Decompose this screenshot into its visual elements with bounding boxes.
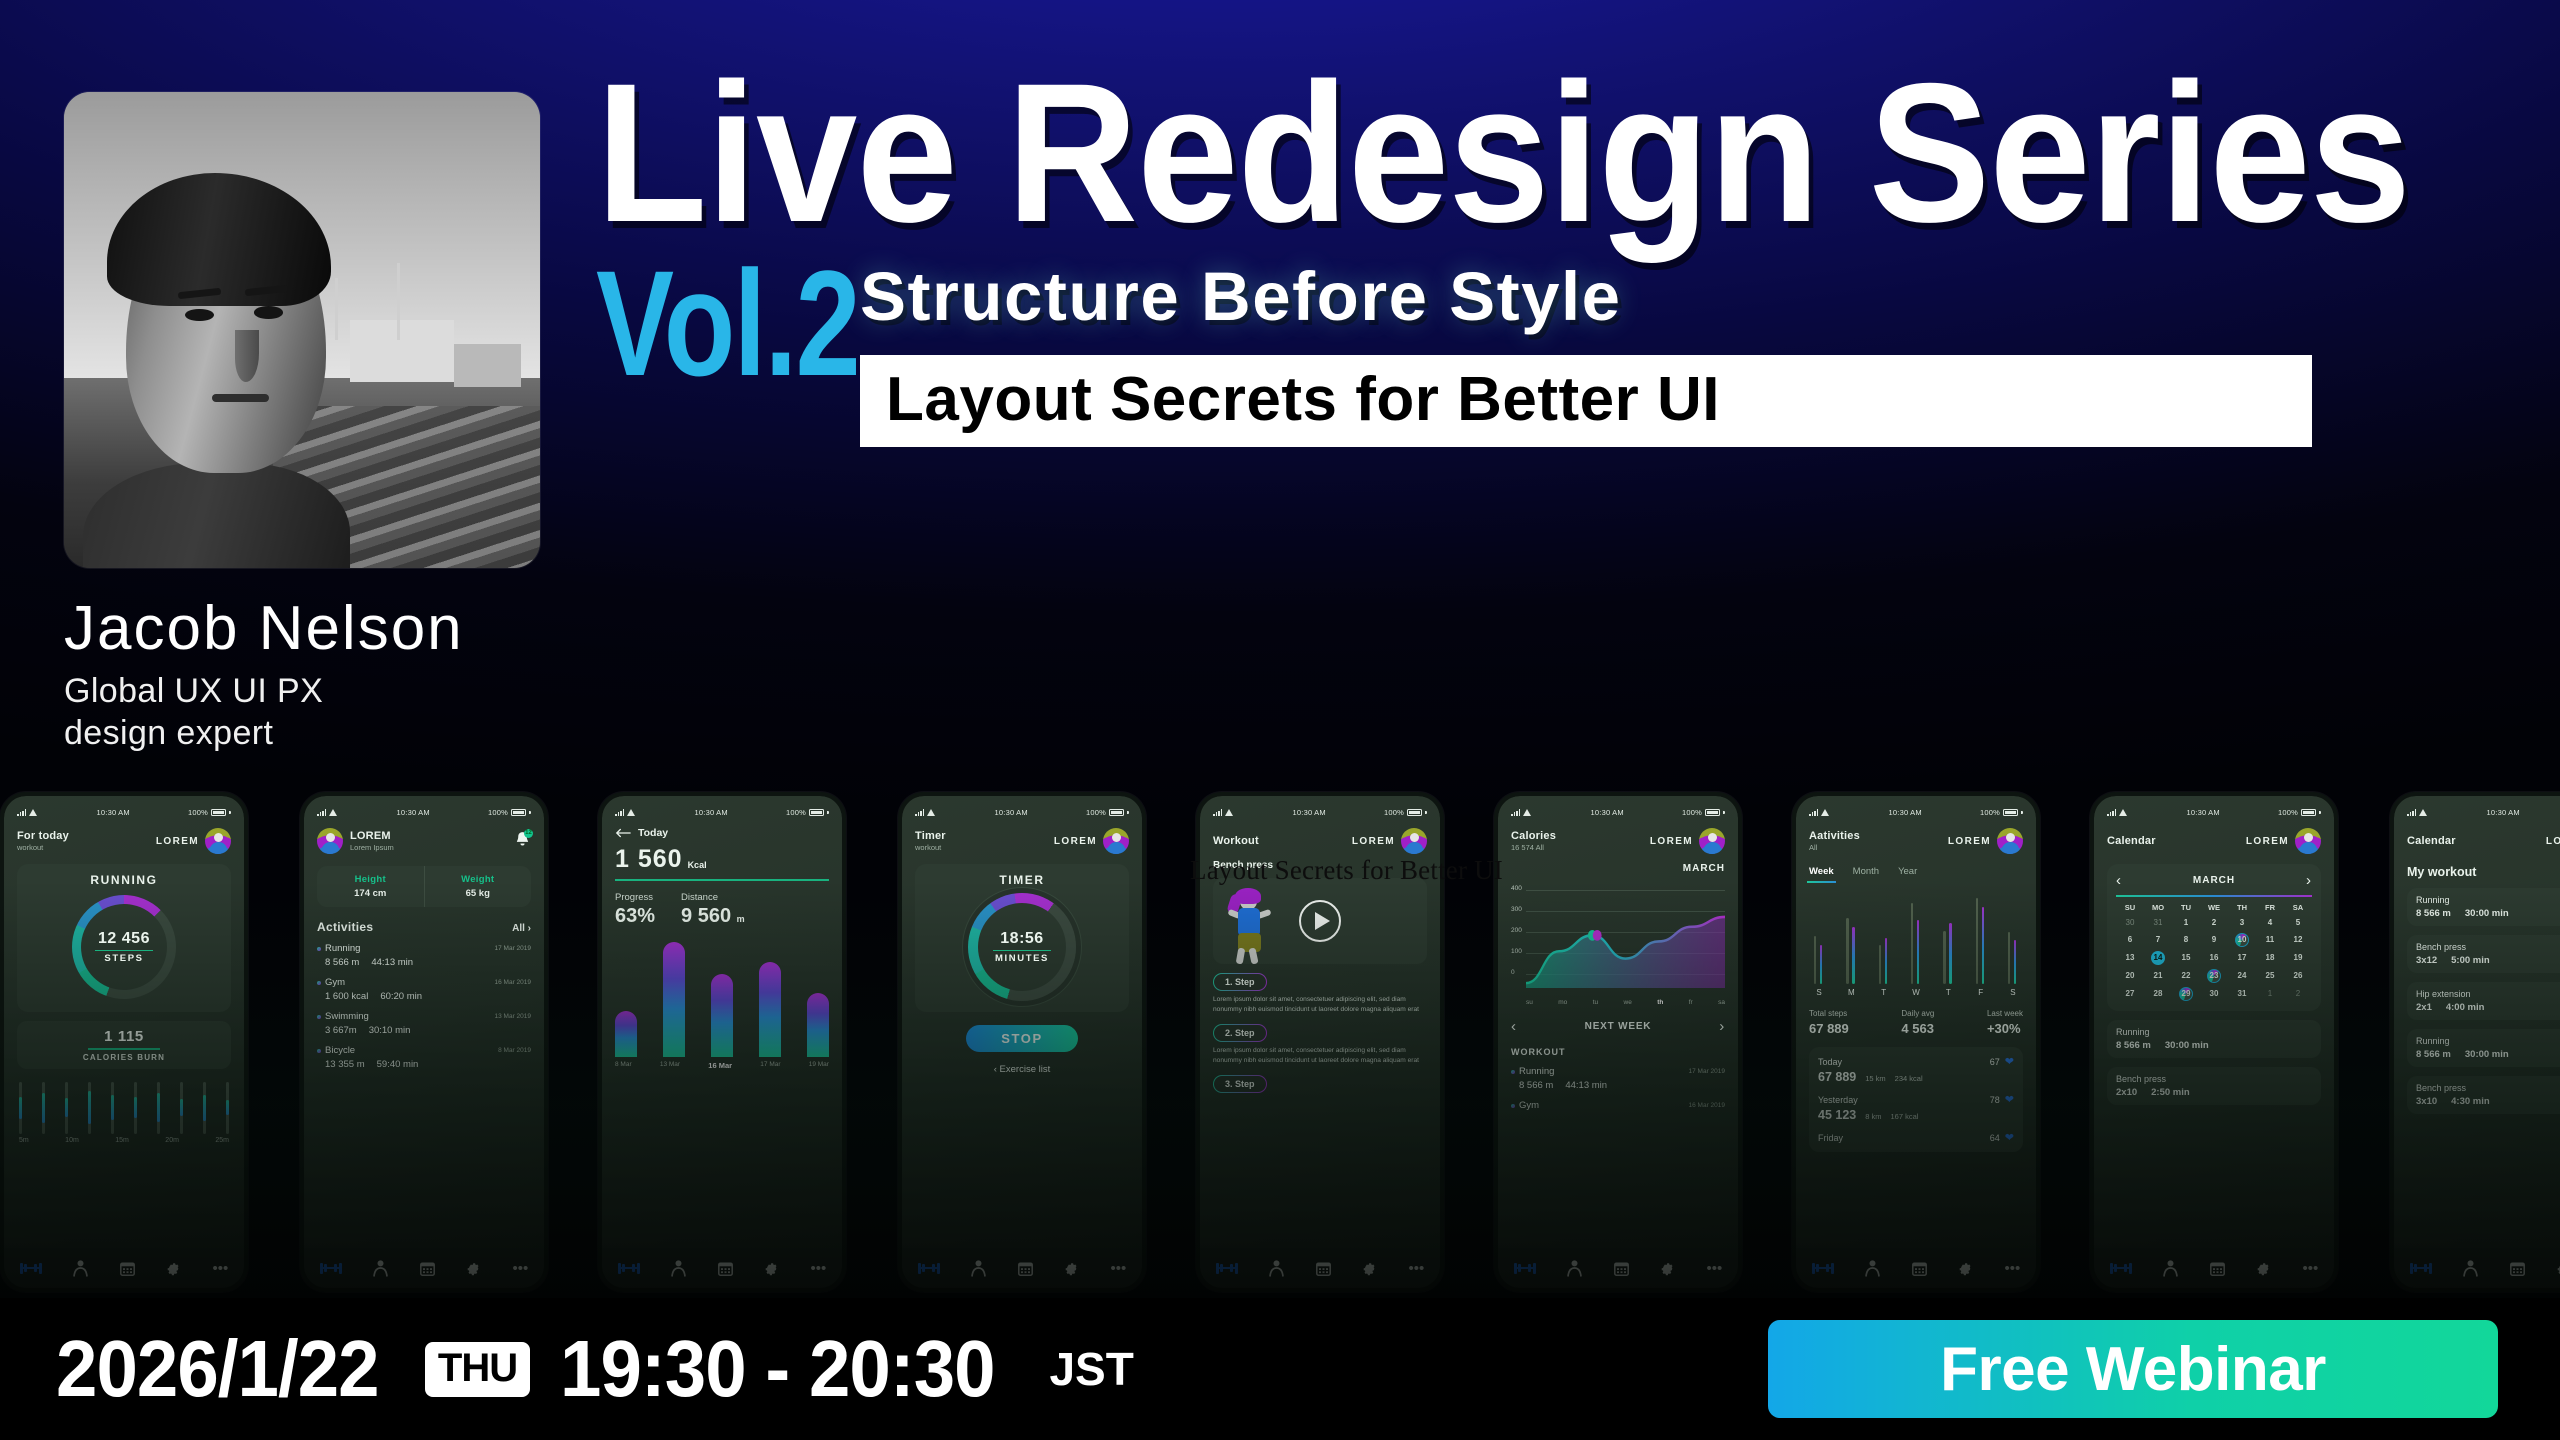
calendar-cell[interactable]: 1 [2172,916,2200,929]
header-title: Workout [1213,835,1259,847]
list-item[interactable]: Bicycle 8 Mar 2019 13 355 m59:40 min [317,1045,531,1070]
phone-screen: 10:30 AM 100% Calories 16 574 All LOREM … [1498,796,1738,1288]
calendar-cell[interactable]: 10 [2228,933,2256,947]
status-bar: 10:30 AM 100% [317,806,531,819]
axis-tick: 200 [1511,927,1522,934]
portrait-eye [254,306,283,318]
kcal-unit: Kcal [688,860,707,874]
sparkline-bar [157,1082,160,1134]
item-values: 2x102:50 min [2116,1087,2312,1098]
header-title: For today [17,830,69,842]
day-steps: 67 889 [1818,1070,1856,1084]
person-icon[interactable] [671,1260,686,1277]
status-bar: 10:30 AM 100% [17,806,231,819]
wifi-icon [1821,809,1830,816]
calendar-icon[interactable] [1316,1261,1331,1276]
status-left [17,809,38,816]
calendar-dow: MO [2144,903,2172,912]
profile-identity: LOREM Lorem Ipsum [317,828,394,854]
tab-month[interactable]: Month [1853,866,1879,877]
axis-tick: M [1841,988,1861,997]
calendar-cell[interactable]: 30 [2116,916,2144,929]
bar-pair [1809,892,1829,984]
gear-icon[interactable] [764,1261,779,1276]
running-card: RUNNING 12 456 STEPS [17,864,231,1012]
phone-screen: 10:30 AM 100% Calendar LOREM ‹ MARCH › S… [2094,796,2334,1288]
item-values: 3x125:00 min [2416,955,2560,966]
header-lorem: LOREM [2546,836,2560,847]
gear-icon[interactable] [1660,1261,1675,1276]
calendar-day: 30 [2126,918,2135,927]
calendar-icon[interactable] [1018,1261,1033,1276]
status-left [1213,809,1234,816]
activity-top: Gym 16 Mar 2019 [1511,1100,1725,1111]
calendar-cell[interactable]: 28 [2144,987,2172,1001]
battery-icon [2003,809,2018,816]
dumbbell-icon[interactable] [1812,1263,1834,1274]
person-icon[interactable] [1865,1260,1880,1277]
axis-tick: S [2003,988,2023,997]
calendar-cell[interactable]: 31 [2228,987,2256,1001]
bar-target [1879,945,1881,984]
more-icon[interactable]: ••• [1706,1261,1722,1276]
axis-tick: 300 [1511,906,1522,913]
list-item[interactable]: Bench press 3x125:00 min [2407,935,2560,973]
calendar-icon[interactable] [2510,1261,2525,1276]
list-item[interactable]: Yesterday 78❤ 45 123 8 km 167 kcal [1818,1093,2014,1122]
calendar-day: 15 [2182,953,2191,962]
person-icon[interactable] [2163,1260,2178,1277]
signal-icon [915,809,924,816]
item-name: Bench press [2116,1074,2312,1084]
battery-percent: 100% [188,808,208,817]
calendar-day: 23 [2207,969,2221,983]
sparkline-bar [111,1082,114,1134]
person-icon[interactable] [73,1260,88,1277]
calendar-icon[interactable] [120,1261,135,1276]
phone-running[interactable]: 10:30 AM 100% For today workout LOREM RU… [0,792,248,1292]
axis-tick: F [1971,988,1991,997]
calendar-day: 21 [2154,971,2163,980]
dumbbell-icon[interactable] [2410,1263,2432,1274]
phone-calendar[interactable]: 10:30 AM 100% Calendar LOREM ‹ MARCH › S… [2090,792,2338,1292]
notification-badge: 12 [524,829,533,838]
free-webinar-button[interactable]: Free Webinar [1768,1320,2498,1418]
calendar-cell[interactable]: 16 [2200,951,2228,965]
bar-actual [1852,927,1854,984]
more-icon[interactable]: ••• [1110,1261,1126,1276]
calendar-day: 16 [2210,953,2219,962]
activity-metric: 13 355 m [325,1059,365,1070]
divider [615,879,829,881]
avatar[interactable] [205,828,231,854]
signal-icon [615,809,624,816]
bar-target [1814,936,1816,984]
calendar-cell[interactable]: 21 [2144,969,2172,983]
list-item[interactable]: Running 17 Mar 2019 8 566 m44:13 min [1511,1066,1725,1091]
battery-tip-icon [1127,811,1129,814]
list-item[interactable]: Bench press 3x104:30 min [2407,1076,2560,1114]
subtitle-secondary: Layout Secrets for Better UI [886,369,2286,431]
bar-pair [2003,892,2023,984]
battery-percent: 100% [1086,808,1106,817]
list-item[interactable]: Gym 16 Mar 2019 1 600 kcal60:20 min [317,977,531,1002]
calendar-icon[interactable] [1912,1261,1927,1276]
dumbbell-icon[interactable] [1514,1263,1536,1274]
total-key: Total steps [1809,1009,1849,1018]
axis-tick: fr [1689,999,1693,1006]
signal-icon [1213,809,1222,816]
portrait-mouth [212,394,269,402]
calendar-icon[interactable] [1614,1261,1629,1276]
avatar[interactable] [317,828,343,854]
calendar-day: 29 [2179,987,2193,1001]
timer-unit: MINUTES [995,953,1049,964]
gear-icon[interactable] [2556,1261,2560,1276]
chart-x-axis: sumotuwethfrsa [1526,999,1725,1006]
tab-bar: ••• [2094,1248,2334,1288]
axis-tick: 17 Mar [760,1061,780,1070]
wifi-icon [2119,809,2128,816]
gear-icon[interactable] [1362,1261,1377,1276]
divider [2116,895,2312,897]
list-item[interactable]: Friday 64❤ [1818,1131,2014,1144]
battery-tip-icon [529,811,531,814]
activity-metric: 1 600 kcal [325,991,368,1002]
dumbbell-icon[interactable] [2110,1263,2132,1274]
header-right: LOREM [2546,828,2560,854]
screen-header: For today workout LOREM [17,826,231,856]
calendar-cell[interactable]: 19 [2284,951,2312,965]
battery-icon [511,809,526,816]
wifi-icon [927,809,936,816]
stop-button[interactable]: STOP [966,1025,1078,1052]
item-metric: 8 566 m [2116,1040,2151,1051]
activity-top: Bicycle 8 Mar 2019 [317,1045,531,1056]
list-item[interactable]: Running 17 Mar 2019 8 566 m44:13 min [317,943,531,968]
calendar-day: 13 [2126,953,2135,962]
bar-actual [1949,923,1951,984]
speaker-portrait [64,92,540,568]
dumbbell-icon[interactable] [618,1263,640,1274]
calendar-cell[interactable]: 24 [2228,969,2256,983]
heart-icon: ❤ [2005,1055,2014,1068]
activity-date: 16 Mar 2019 [495,979,532,986]
activity-top: Gym 16 Mar 2019 [317,977,531,988]
calendar-day: 1 [2268,989,2272,998]
day-label: Yesterday [1818,1095,1858,1105]
phone-calories-chart[interactable]: 10:30 AM 100% Calories 16 574 All LOREM … [1494,792,1742,1292]
wifi-icon [1225,809,1234,816]
stat-cell: Weight 65 kg [424,866,532,907]
calendar-cell[interactable]: 2 [2200,916,2228,929]
header-right: LOREM [1650,828,1725,854]
runner-illustration [1227,886,1285,964]
step-pill: 3. Step [1213,1075,1267,1093]
portrait-eye [185,309,214,321]
status-time: 10:30 AM [2187,808,2220,817]
status-bar: 10:30 AM 100% [2407,806,2560,819]
calendar-day: 31 [2238,989,2247,998]
activity-duration: 44:13 min [1565,1080,1607,1091]
person-icon[interactable] [971,1260,986,1277]
heart-icon: ❤ [2005,1093,2014,1106]
week-nav-label: NEXT WEEK [1585,1021,1652,1032]
list-item[interactable]: Hip extension 2x14:00 min [2407,982,2560,1020]
calendar-cell[interactable]: 8 [2172,933,2200,947]
wifi-icon [29,809,38,816]
list-item[interactable]: Running 8 566 m30:00 min [2107,1020,2321,1058]
calendar-cell[interactable]: 20 [2116,969,2144,983]
item-name: Running [2416,1036,2560,1046]
more-icon[interactable]: ••• [212,1261,228,1276]
exercise-list-link[interactable]: ‹ Exercise list [915,1064,1129,1075]
step-block: 1. Step Lorem ipsum dolor sit amet, cons… [1213,964,1427,1015]
notifications-bell[interactable]: 12 [514,831,531,851]
subtitle-column: Structure Before Style Layout Secrets fo… [860,262,2502,446]
calendar-day: 2 [2212,918,2216,927]
calendar-day: 9 [2212,935,2216,944]
more-icon[interactable]: ••• [1408,1261,1424,1276]
item-metric: 3x10 [2416,1096,2437,1107]
chart-marker [1593,930,1602,941]
axis-tick: 19 Mar [809,1061,829,1070]
calendar-cell[interactable]: 22 [2172,969,2200,983]
calendar-day: 25 [2266,971,2275,980]
phone-activities-week[interactable]: 10:30 AM 100% Aativities All LOREM WeekM… [1792,792,2040,1292]
activity-metric: 8 566 m [1519,1080,1553,1091]
list-item[interactable]: Running 8 566 m30:00 min [2407,1029,2560,1067]
divider [88,1048,160,1050]
header-right: LOREM [1948,828,2023,854]
activity-duration: 44:13 min [371,957,413,968]
header-title: LOREM [350,830,394,842]
calendar-cell[interactable]: 13 [2116,951,2144,965]
calendar-icon[interactable] [2210,1261,2225,1276]
gear-icon[interactable] [1064,1261,1079,1276]
activity-top: Running 17 Mar 2019 [317,943,531,954]
battery-percent: 100% [1384,808,1404,817]
gear-icon[interactable] [1958,1261,1973,1276]
phone-timer[interactable]: 10:30 AM 100% Timer workout LOREM TIMER … [898,792,1146,1292]
chevron-left-icon[interactable]: ‹ [2116,872,2122,889]
more-icon[interactable]: ••• [810,1261,826,1276]
list-item[interactable]: Today 67❤ 67 889 15 km 234 kcal [1818,1055,2014,1084]
gear-icon[interactable] [2256,1261,2271,1276]
item-name: Running [2416,895,2560,905]
screen-header: Workout LOREM [1213,826,1427,856]
calendar-cell[interactable]: 25 [2256,969,2284,983]
header-title: Aativities [1809,830,1860,842]
calendar-day: 6 [2128,935,2132,944]
activity-top: Swimming 13 Mar 2019 [317,1011,531,1022]
wifi-icon [329,809,338,816]
bar-target [1943,931,1945,984]
person-icon[interactable] [2463,1260,2478,1277]
gear-icon[interactable] [166,1261,181,1276]
calendar-cell[interactable]: 9 [2200,933,2228,947]
distance-stat: Distance 9 560 m [681,892,745,928]
total-value: +30% [1987,1021,2023,1036]
axis-tick: 13 Mar [660,1061,680,1070]
calendar-cell[interactable]: 6 [2116,933,2144,947]
tab-week[interactable]: Week [1809,866,1834,877]
play-icon[interactable] [1299,900,1341,942]
phone-today-kcal[interactable]: 10:30 AM 100% Today 1 560 Kcal Progress … [598,792,846,1292]
avatar[interactable] [1401,828,1427,854]
avatar[interactable] [1699,828,1725,854]
calendar-cell[interactable]: 31 [2144,916,2172,929]
calendar-cell[interactable]: 7 [2144,933,2172,947]
calendar-day: 3 [2240,918,2244,927]
avatar[interactable] [1103,828,1129,854]
list-item[interactable]: Bench press 2x102:50 min [2107,1067,2321,1105]
signal-icon [1511,809,1520,816]
calendar-cell[interactable]: 27 [2116,987,2144,1001]
step-pill: 2. Step [1213,1024,1267,1042]
activity-top: Running 17 Mar 2019 [1511,1066,1725,1077]
status-right: 100% [2278,808,2321,817]
calendar-cell[interactable]: 4 [2256,916,2284,929]
status-bar: 10:30 AM 100% [1809,806,2023,819]
phone-my-workout[interactable]: 10:30 AM 100% Calendar LOREM My workout … [2390,792,2560,1292]
phone-workout-steps[interactable]: 10:30 AM 100% Workout LOREM Bench press [1196,792,1444,1292]
distance-label: Distance [681,892,745,903]
axis-tick: W [1906,988,1926,997]
item-metric: 2x1 [2416,1002,2432,1013]
calendar-cell[interactable]: 17 [2228,951,2256,965]
calendar-day: 27 [2126,989,2135,998]
calendar-cell[interactable]: 23 [2200,969,2228,983]
event-timezone: JST [1049,1342,1133,1396]
calendar-day: 22 [2182,971,2191,980]
total-key: Last week [1987,1009,2023,1018]
see-all-link[interactable]: All › [512,923,531,934]
item-name: Bench press [2416,1083,2560,1093]
sparkline-bar [19,1082,22,1134]
gear-icon[interactable] [466,1261,481,1276]
period-tabs: WeekMonthYear [1809,866,2023,877]
calendar-cell[interactable]: 3 [2228,916,2256,929]
bar-pair [1906,892,1926,984]
list-item[interactable]: Running 8 566 m30:00 min [2407,888,2560,926]
event-day-badge: THU [425,1342,530,1397]
calendar-day: 19 [2294,953,2303,962]
volume-label: Vol.2 [596,262,799,385]
calendar-icon[interactable] [718,1261,733,1276]
calendar-cell[interactable]: 14 [2144,951,2172,965]
chevron-left-icon[interactable]: ‹ [1511,1018,1517,1035]
calendar-cell[interactable]: 26 [2284,969,2312,983]
calendar-cell[interactable]: 18 [2256,951,2284,965]
battery-icon [1705,809,1720,816]
exercise-video[interactable] [1213,878,1427,964]
more-icon[interactable]: ••• [2302,1261,2318,1276]
week-nav: ‹ NEXT WEEK › [1511,1018,1725,1035]
bar [711,974,733,1057]
tab-bar: ••• [4,1248,244,1288]
list-item[interactable]: Swimming 13 Mar 2019 3 667m30:10 min [317,1011,531,1036]
person-icon[interactable] [373,1260,388,1277]
calendar-icon[interactable] [420,1261,435,1276]
sparkline-bar [88,1082,91,1134]
axis-tick: th [1657,999,1663,1006]
back-arrow-icon[interactable] [615,828,631,838]
phone-mockups-strip: 10:30 AM 100% For today workout LOREM RU… [0,786,2560,1298]
portrait-pole [397,263,400,339]
calendar-cell[interactable]: 12 [2284,933,2312,947]
bar-actual [1982,907,1984,984]
screen-header: Calendar LOREM [2407,826,2560,856]
status-left [1511,809,1532,816]
day-top: Friday 64❤ [1818,1131,2014,1144]
screen-header: Aativities All LOREM [1809,826,2023,856]
phone-profile[interactable]: 10:30 AM 100% LOREM Lorem Ipsum 12 Heigh… [300,792,548,1292]
screen-header: Today [615,827,829,839]
dumbbell-icon[interactable] [320,1263,342,1274]
calendar-cell[interactable]: 2 [2284,987,2312,1001]
day-label: Today [1818,1057,1842,1067]
calendar-cell[interactable]: 1 [2256,987,2284,1001]
axis-tick: su [1526,999,1533,1006]
calendar-cell[interactable]: 11 [2256,933,2284,947]
status-right: 100% [786,808,829,817]
avatar[interactable] [2295,828,2321,854]
tab-year[interactable]: Year [1898,866,1917,877]
battery-tip-icon [229,811,231,814]
more-icon[interactable]: ••• [2004,1261,2020,1276]
calories-label: CALORIES BURN [26,1053,222,1062]
calendar-cell[interactable]: 5 [2284,916,2312,929]
chart-plot [1526,890,1725,988]
bullet-icon [1511,1104,1515,1108]
chevron-right-icon[interactable]: › [2306,872,2312,889]
signal-icon [1809,809,1818,816]
calendar-cell[interactable]: 15 [2172,951,2200,965]
progress-distance-row: Progress 63% Distance 9 560 m [615,892,829,928]
bullet-icon [1511,1070,1515,1074]
calendar-day: 4 [2268,918,2272,927]
axis-tick: 5m [19,1137,29,1144]
header-lorem: LOREM [2246,836,2289,847]
battery-icon [809,809,824,816]
list-item[interactable]: Gym 16 Mar 2019 [1511,1100,1725,1111]
portrait-building [454,344,521,387]
steps-ring: 12 456 STEPS [72,895,176,999]
more-icon[interactable]: ••• [512,1261,528,1276]
event-time: 19:30 - 20:30 [560,1323,995,1415]
day-kcal: 234 kcal [1895,1074,1923,1083]
timer-ring: 18:56 MINUTES [968,893,1076,1001]
totals-row: Total steps 67 889 Daily avg 4 563 Last … [1809,1009,2023,1036]
chevron-right-icon[interactable]: › [1719,1018,1725,1035]
axis-tick: 16 Mar [708,1061,732,1070]
person-icon[interactable] [1269,1260,1284,1277]
person-icon[interactable] [1567,1260,1582,1277]
day-values: 67 889 15 km 234 kcal [1818,1070,2014,1084]
day-distance: 15 km [1865,1074,1885,1083]
calendar-cell[interactable]: 29 [2172,987,2200,1001]
speaker-role-line1: Global UX UI PX [64,671,540,712]
calendar-cell[interactable]: 30 [2200,987,2228,1001]
item-name: Running [2116,1027,2312,1037]
dumbbell-icon[interactable] [1216,1263,1238,1274]
calendar-day: 5 [2296,918,2300,927]
dumbbell-icon[interactable] [918,1263,940,1274]
dumbbell-icon[interactable] [20,1263,42,1274]
calendar-day: 31 [2154,918,2163,927]
avatar[interactable] [1997,828,2023,854]
